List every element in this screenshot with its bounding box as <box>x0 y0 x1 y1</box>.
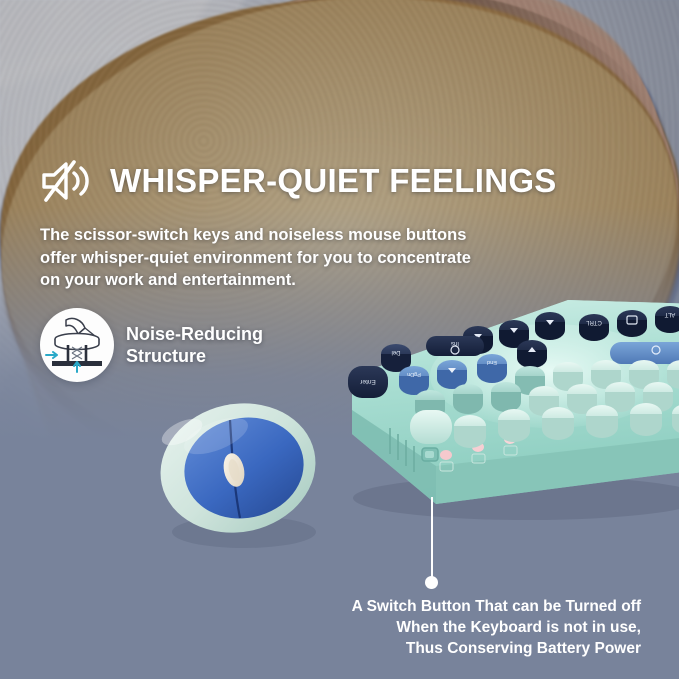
page-title: WHISPER-QUIET FEELINGS <box>110 162 557 200</box>
callout-leader-line <box>431 497 433 579</box>
callout-line-2: When the Keyboard is not in use, <box>221 617 641 638</box>
mute-speaker-icon <box>40 158 96 204</box>
callout-leader-dot <box>425 576 438 589</box>
badge-label-line-2: Structure <box>126 345 263 367</box>
keycap-cross-section-icon <box>40 308 114 382</box>
svg-text:PgDn: PgDn <box>407 371 421 377</box>
svg-text:Del: Del <box>391 349 400 355</box>
product-feature-banner: WHISPER-QUIET FEELINGS The scissor-switc… <box>0 0 679 679</box>
body-line-1: The scissor-switch keys and noiseless mo… <box>40 224 560 247</box>
svg-text:ALT: ALT <box>664 311 675 317</box>
product-mouse <box>152 392 324 554</box>
callout-line-1: A Switch Button That can be Turned off <box>221 596 641 617</box>
headline-row: WHISPER-QUIET FEELINGS <box>40 158 557 204</box>
svg-text:CTRL: CTRL <box>586 319 602 325</box>
badge-label-line-1: Noise-Reducing <box>126 323 263 345</box>
callout-line-3: Thus Conserving Battery Power <box>221 638 641 659</box>
svg-text:End: End <box>487 359 497 365</box>
product-keyboard: ALT CTRL Ins <box>318 258 679 528</box>
svg-text:Enter: Enter <box>359 378 375 385</box>
badge-circle <box>40 308 114 382</box>
badge-label: Noise-Reducing Structure <box>126 323 263 367</box>
noise-reducing-badge: Noise-Reducing Structure <box>40 308 263 382</box>
svg-text:Ins: Ins <box>451 340 459 346</box>
callout-text: A Switch Button That can be Turned off W… <box>221 596 641 659</box>
